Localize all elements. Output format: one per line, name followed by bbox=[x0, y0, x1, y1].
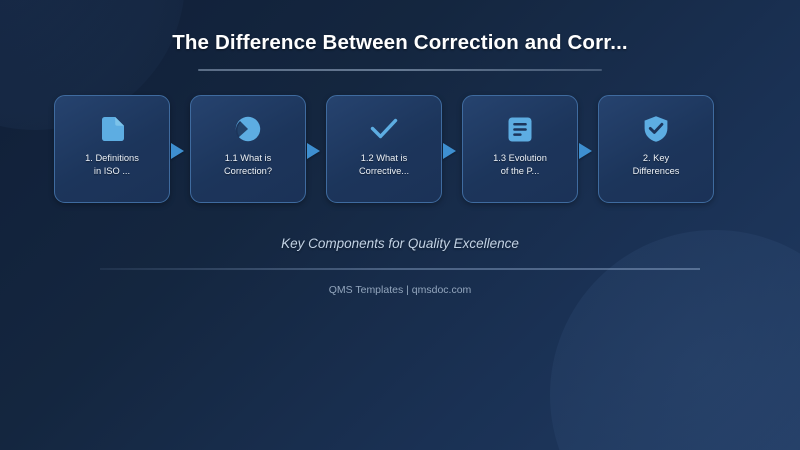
slide-title: The Difference Between Correction and Co… bbox=[0, 31, 800, 55]
process-card-4-line2: of the P... bbox=[501, 166, 540, 176]
process-card-1-line1: 1. Definitions bbox=[85, 153, 139, 163]
process-card-5-line2: Differences bbox=[633, 166, 680, 176]
process-card-2-line2: Correction? bbox=[224, 166, 272, 176]
footer-divider bbox=[100, 268, 700, 270]
arrow-3-to-4 bbox=[443, 143, 456, 159]
process-card-2-line1: 1.1 What is bbox=[225, 153, 272, 163]
process-card-1-line2: in ISO ... bbox=[94, 166, 130, 176]
arrow-1-to-2 bbox=[171, 143, 184, 159]
process-card-4[interactable]: 1.3 Evolution of the P... bbox=[462, 95, 578, 203]
process-card-5-line1: 2. Key bbox=[643, 153, 669, 163]
process-card-5[interactable]: 2. Key Differences bbox=[598, 95, 714, 203]
footer-attribution: QMS Templates | qmsdoc.com bbox=[0, 284, 800, 296]
process-card-1-label: 1. Definitions in ISO ... bbox=[60, 152, 164, 178]
process-card-2[interactable]: 1.1 What is Correction? bbox=[190, 95, 306, 203]
shield-check-icon bbox=[641, 114, 671, 144]
process-card-row: 1. Definitions in ISO ... 1.1 What is Co… bbox=[54, 95, 746, 205]
process-card-3-line2: Corrective... bbox=[359, 166, 409, 176]
arrow-4-to-5 bbox=[579, 143, 592, 159]
decorative-circle-bottom-right bbox=[550, 230, 800, 450]
process-card-3-label: 1.2 What is Corrective... bbox=[332, 152, 436, 178]
checkmark-icon bbox=[369, 114, 399, 144]
process-card-4-label: 1.3 Evolution of the P... bbox=[468, 152, 572, 178]
process-card-3[interactable]: 1.2 What is Corrective... bbox=[326, 95, 442, 203]
process-card-4-line1: 1.3 Evolution bbox=[493, 153, 547, 163]
arrow-2-to-3 bbox=[307, 143, 320, 159]
process-card-1[interactable]: 1. Definitions in ISO ... bbox=[54, 95, 170, 203]
pie-circle-icon bbox=[233, 114, 263, 144]
slide-subtitle: Key Components for Quality Excellence bbox=[0, 236, 800, 251]
process-card-3-line1: 1.2 What is bbox=[361, 153, 408, 163]
document-page-icon bbox=[97, 114, 127, 144]
document-list-icon bbox=[505, 114, 535, 144]
process-card-5-label: 2. Key Differences bbox=[604, 152, 708, 178]
title-divider bbox=[198, 69, 602, 71]
process-card-2-label: 1.1 What is Correction? bbox=[196, 152, 300, 178]
slide-canvas: The Difference Between Correction and Co… bbox=[0, 0, 800, 450]
